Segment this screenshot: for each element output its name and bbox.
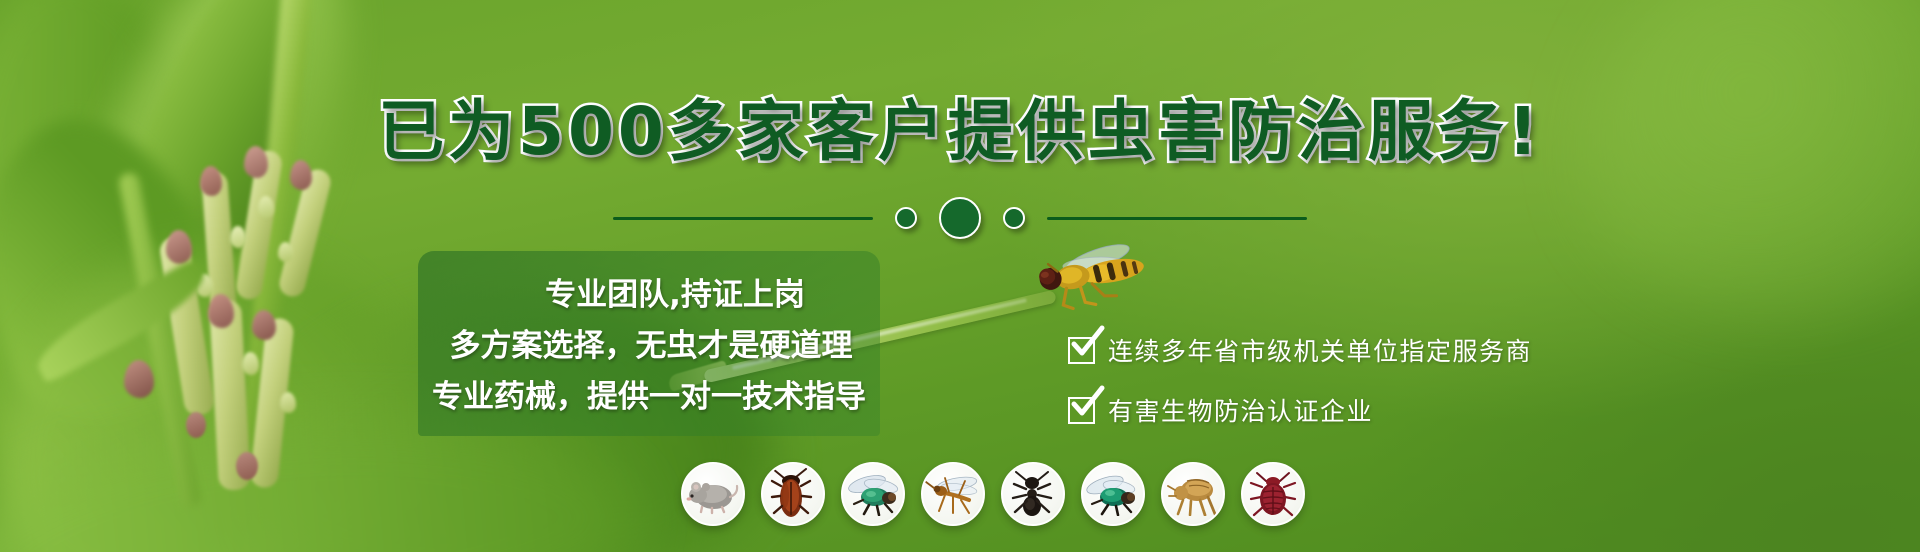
selling-points-panel: 专业团队,持证上岗 多方案选择，无虫才是硬道理 专业药械，提供一对一技术指导 (418, 251, 880, 436)
checkmark-icon (1068, 337, 1095, 364)
banner-headline: 已为500多家客户提供虫害防治服务! (0, 78, 1920, 174)
plant-seed-bead (280, 392, 296, 413)
credentials-list: 连续多年省市级机关单位指定服务商 有害生物防治认证企业 (1068, 332, 1532, 428)
credential-item: 有害生物防治认证企业 (1068, 392, 1532, 428)
pest-icon-mosquito[interactable] (921, 462, 985, 526)
pest-icon-bedbug[interactable] (1241, 462, 1305, 526)
credential-label: 有害生物防治认证企业 (1108, 392, 1373, 428)
plant-seed-bead (278, 242, 293, 262)
pest-icon-row (681, 462, 1305, 526)
plant-bud-tip (236, 452, 258, 480)
checkmark-icon (1068, 397, 1095, 424)
promo-banner: 已为500多家客户提供虫害防治服务! 专业团队,持证上岗 多方案选择，无虫才是硬… (0, 0, 1920, 552)
divider-small-dot (1003, 207, 1025, 229)
plant-bud-tip (186, 412, 206, 438)
pest-icon-mouse[interactable] (681, 462, 745, 526)
pest-icon-ant[interactable] (1001, 462, 1065, 526)
selling-point-line-3: 专业药械，提供一对一技术指导 (418, 371, 880, 416)
plant-seed-bead (242, 352, 259, 375)
divider-small-dot (895, 207, 917, 229)
plant-bud (252, 310, 276, 340)
divider-large-dot (939, 197, 981, 239)
decorative-divider (0, 198, 1920, 238)
plant-bud (208, 294, 234, 328)
divider-line-right (1047, 217, 1307, 220)
divider-line-left (613, 217, 873, 220)
pest-icon-housefly[interactable] (841, 462, 905, 526)
pest-icon-greenbottle-fly[interactable] (1081, 462, 1145, 526)
credential-item: 连续多年省市级机关单位指定服务商 (1068, 332, 1532, 368)
pest-icon-cockroach[interactable] (761, 462, 825, 526)
credential-label: 连续多年省市级机关单位指定服务商 (1108, 332, 1532, 368)
selling-point-line-1: 专业团队,持证上岗 (418, 269, 880, 314)
pest-icon-flea[interactable] (1161, 462, 1225, 526)
selling-point-line-2: 多方案选择，无虫才是硬道理 (418, 320, 880, 365)
